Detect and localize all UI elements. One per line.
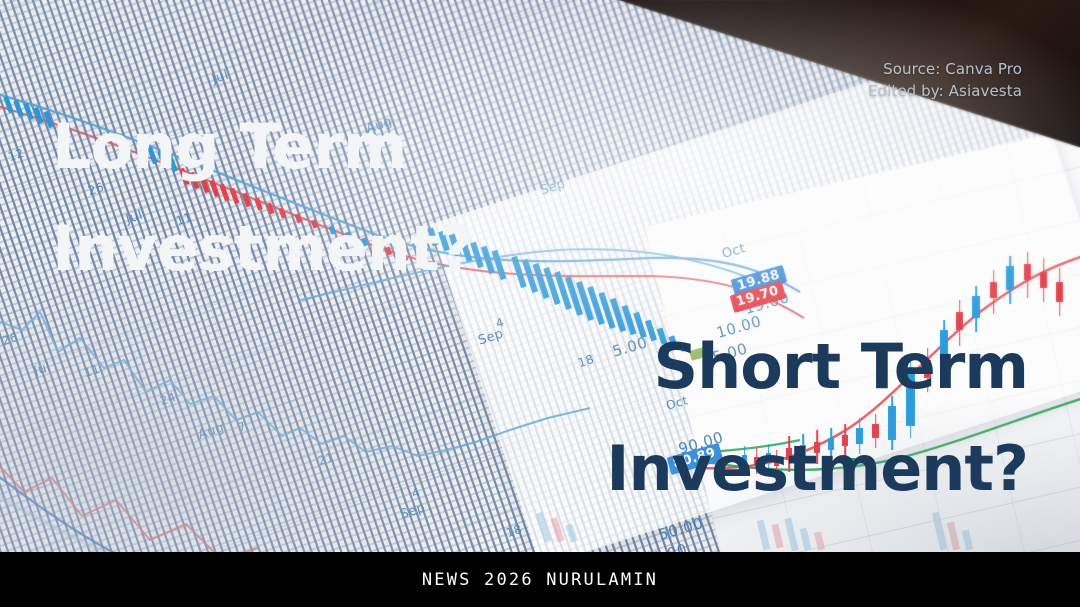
slide-canvas: 12 26 Jul 11 Jul Aug Sep 26 Jul 11 24 Au… — [0, 0, 1080, 607]
headline-long-term: Long Term Investment? — [52, 116, 474, 280]
footer-text: NEWS 2026 NURULAMIN — [422, 570, 658, 590]
footer-bar: NEWS 2026 NURULAMIN — [0, 552, 1080, 607]
credit-block: Source: Canva Pro Edited by: Asiavesta — [868, 58, 1022, 102]
headline-long-line1: Long Term — [52, 110, 407, 183]
credit-editor: Edited by: Asiavesta — [868, 80, 1022, 102]
headline-short-line2: Investment? — [606, 438, 1028, 500]
headline-short-line1: Short Term — [654, 330, 1028, 403]
headline-long-line2: Investment? — [52, 218, 474, 280]
headline-short-term: Short Term Investment? — [606, 336, 1028, 500]
credit-source: Source: Canva Pro — [868, 58, 1022, 80]
